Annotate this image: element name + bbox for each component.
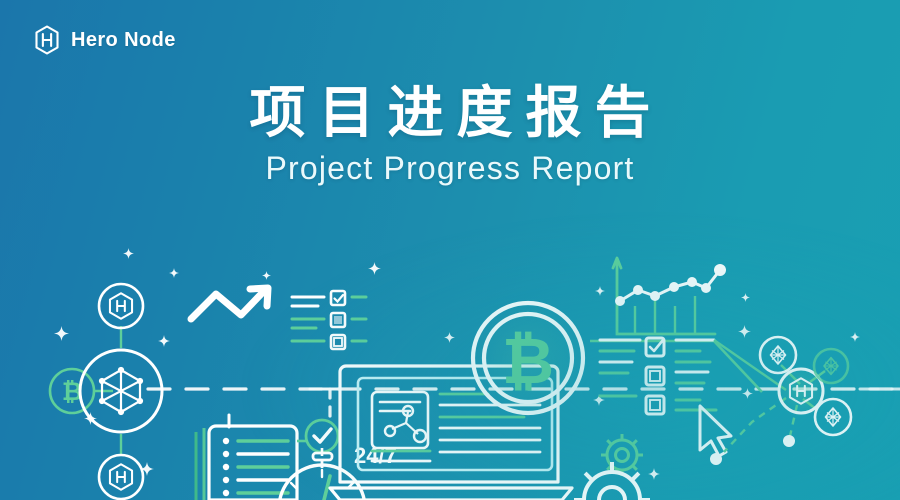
check-circle-icon	[306, 420, 338, 452]
illustration-layer: ₿	[0, 0, 900, 500]
gear-icon-large	[574, 462, 650, 500]
notepad-icon	[196, 415, 307, 500]
title-block: 项目进度报告 Project Progress Report	[0, 84, 900, 188]
checklist-small	[292, 291, 366, 349]
checklist-large	[646, 338, 716, 414]
network-hub-icon	[80, 326, 162, 456]
hexagon-h-icon	[32, 24, 62, 56]
brand-wordmark: Hero Node	[71, 30, 176, 50]
gear-icon-small	[601, 434, 643, 476]
svg-text:₿: ₿	[502, 325, 554, 399]
project-progress-banner: ₿	[0, 0, 900, 500]
bitcoin-coin-icon: ₿	[468, 298, 588, 418]
hexagon-h-node-bottom	[99, 455, 143, 499]
sparkle-decorations	[54, 248, 860, 480]
brand-logo[interactable]: Hero Node	[32, 24, 176, 56]
node-cluster-icon	[710, 337, 851, 465]
hexagon-h-node-top	[99, 284, 143, 328]
bar-chart-with-arrow	[191, 288, 268, 372]
page-title-chinese: 项目进度报告	[0, 84, 900, 143]
page-title-english: Project Progress Report	[0, 149, 900, 187]
